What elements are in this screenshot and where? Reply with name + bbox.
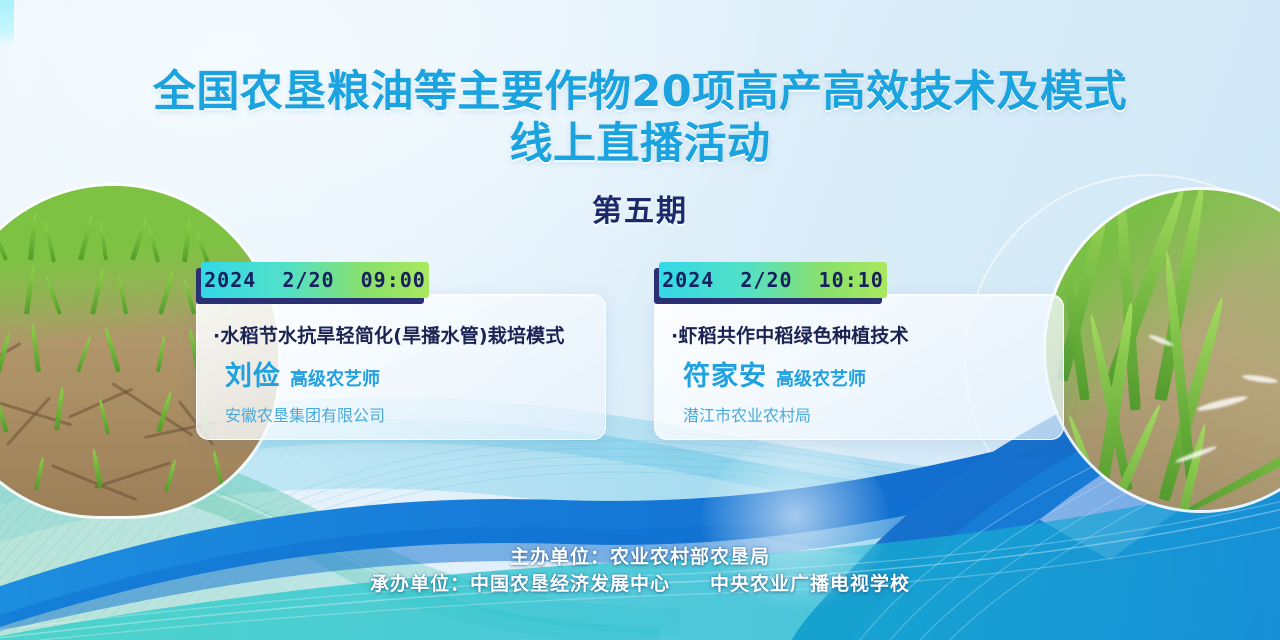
footer-coorganizer-line: 承办单位：中国农垦经济发展中心 中央农业广播电视学校	[0, 571, 1280, 598]
session-speaker-title: 高级农艺师	[290, 365, 380, 391]
live-event-poster: 全国农垦粮油等主要作物20项高产高效技术及模式 线上直播活动 第五期 2024 …	[0, 0, 1280, 640]
badge-surface: 2024 2/20 09:00	[201, 262, 429, 298]
session-card-body: ·水稻节水抗旱轻简化(旱播水管)栽培模式 刘俭 高级农艺师 安徽农垦集团有限公司	[196, 294, 606, 440]
session-topic: ·虾稻共作中稻绿色种植技术	[671, 321, 1045, 348]
poster-title-block: 全国农垦粮油等主要作物20项高产高效技术及模式 线上直播活动 第五期	[0, 66, 1280, 230]
session-card[interactable]: 2024 2/20 09:00 ·水稻节水抗旱轻简化(旱播水管)栽培模式 刘俭 …	[196, 262, 606, 440]
badge-surface: 2024 2/20 10:10	[659, 262, 887, 298]
session-datetime-text: 2024 2/20 10:10	[662, 268, 884, 292]
session-organization: 潜江市农业农村局	[671, 402, 1045, 426]
session-speaker-name: 符家安	[683, 354, 767, 393]
session-speaker-row: 符家安 高级农艺师	[671, 354, 1045, 393]
footer-host-line: 主办单位：农业农村部农垦局	[0, 544, 1280, 571]
session-speaker-title: 高级农艺师	[776, 365, 866, 391]
session-datetime-badge: 2024 2/20 10:10	[654, 262, 1064, 302]
session-topic: ·水稻节水抗旱轻简化(旱播水管)栽培模式	[213, 321, 587, 348]
title-line-2: 线上直播活动	[0, 118, 1280, 170]
session-speaker-row: 刘俭 高级农艺师	[213, 354, 587, 393]
top-left-accent-bar	[0, 0, 14, 46]
session-card-list: 2024 2/20 09:00 ·水稻节水抗旱轻简化(旱播水管)栽培模式 刘俭 …	[0, 262, 1280, 452]
session-datetime-text: 2024 2/20 09:00	[204, 268, 426, 292]
session-speaker-name: 刘俭	[225, 354, 281, 393]
footer-organizers: 主办单位：农业农村部农垦局 承办单位：中国农垦经济发展中心 中央农业广播电视学校	[0, 544, 1280, 598]
title-line-1: 全国农垦粮油等主要作物20项高产高效技术及模式	[0, 66, 1280, 118]
session-organization: 安徽农垦集团有限公司	[213, 402, 587, 426]
session-card-body: ·虾稻共作中稻绿色种植技术 符家安 高级农艺师 潜江市农业农村局	[654, 294, 1064, 440]
session-card[interactable]: 2024 2/20 10:10 ·虾稻共作中稻绿色种植技术 符家安 高级农艺师 …	[654, 262, 1064, 440]
session-datetime-badge: 2024 2/20 09:00	[196, 262, 606, 302]
poster-subtitle-episode: 第五期	[0, 186, 1280, 230]
